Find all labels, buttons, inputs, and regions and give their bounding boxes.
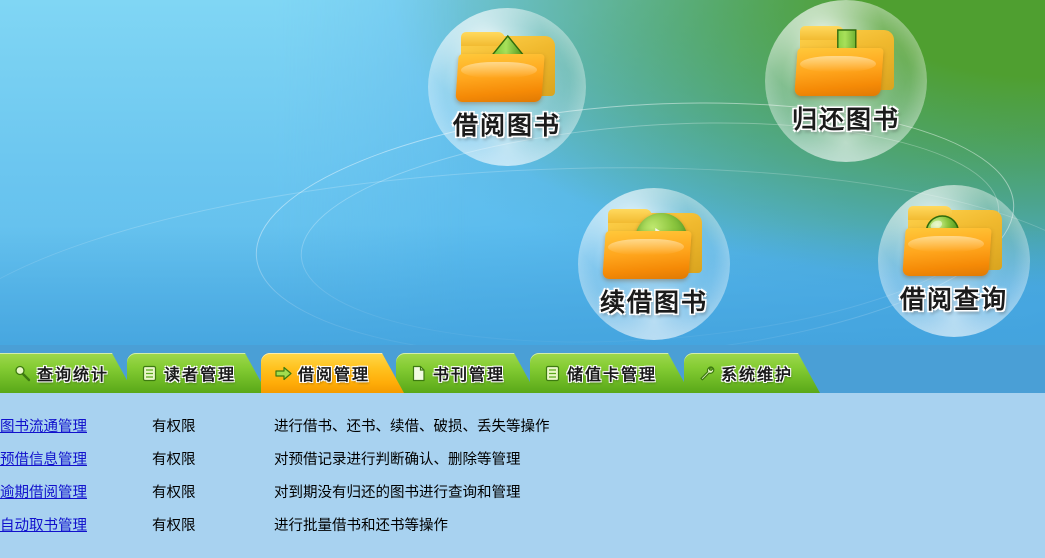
- row-link-cell: 预借信息管理: [0, 442, 152, 475]
- tab-label: 储值卡管理: [567, 361, 657, 385]
- row-description-cell: 进行批量借书和还书等操作: [274, 508, 550, 541]
- tab-system-maintenance[interactable]: 系统维护: [684, 353, 820, 393]
- table-row: 逾期借阅管理 有权限 对到期没有归还的图书进行查询和管理: [0, 475, 550, 508]
- tab-books-management[interactable]: 书刊管理: [396, 353, 536, 393]
- list-icon: [141, 365, 158, 382]
- magnifier-icon: [14, 365, 31, 382]
- bubble-renew-books[interactable]: 续借图书: [578, 188, 730, 340]
- main-navigation-tabbar: 查询统计 读者管理 借阅管理 书刊管理: [0, 345, 1045, 393]
- link-reservation-info-management[interactable]: 预借信息管理: [0, 452, 87, 468]
- tab-reader-management[interactable]: 读者管理: [127, 353, 267, 393]
- tab-label: 借阅管理: [298, 361, 370, 385]
- link-book-circulation-management[interactable]: 图书流通管理: [0, 419, 87, 435]
- bubble-caption: 归还图书: [792, 100, 900, 136]
- document-icon: [410, 365, 427, 382]
- table-row: 预借信息管理 有权限 对预借记录进行判断确认、删除等管理: [0, 442, 550, 475]
- row-link-cell: 逾期借阅管理: [0, 475, 152, 508]
- row-permission-cell: 有权限: [152, 508, 274, 541]
- tab-stored-value-card-management[interactable]: 储值卡管理: [530, 353, 690, 393]
- link-auto-book-pickup-management[interactable]: 自动取书管理: [0, 518, 87, 534]
- row-link-cell: 自动取书管理: [0, 508, 152, 541]
- tab-borrow-management[interactable]: 借阅管理: [261, 353, 404, 393]
- bubble-borrow-query[interactable]: 借阅查询: [878, 185, 1030, 337]
- bubble-borrow-books[interactable]: 借阅图书: [428, 8, 586, 166]
- bubble-caption: 续借图书: [600, 283, 708, 319]
- permissions-panel: 图书流通管理 有权限 进行借书、还书、续借、破损、丢失等操作 预借信息管理 有权…: [0, 393, 1045, 558]
- row-description-cell: 对到期没有归还的图书进行查询和管理: [274, 475, 550, 508]
- list-icon: [544, 365, 561, 382]
- row-permission-cell: 有权限: [152, 409, 274, 442]
- row-permission-cell: 有权限: [152, 475, 274, 508]
- row-link-cell: 图书流通管理: [0, 409, 152, 442]
- permissions-table: 图书流通管理 有权限 进行借书、还书、续借、破损、丢失等操作 预借信息管理 有权…: [0, 409, 550, 541]
- folder-up-arrow-icon: [455, 32, 559, 104]
- tab-label: 书刊管理: [433, 361, 505, 385]
- bubble-return-books[interactable]: 归还图书: [765, 0, 927, 162]
- folder-magnifier-icon: [902, 206, 1006, 278]
- tab-label: 系统维护: [721, 361, 793, 385]
- arrow-right-icon: [275, 365, 292, 382]
- bubble-caption: 借阅图书: [453, 106, 561, 142]
- link-overdue-borrow-management[interactable]: 逾期借阅管理: [0, 485, 87, 501]
- tab-label: 查询统计: [37, 361, 109, 385]
- row-description-cell: 进行借书、还书、续借、破损、丢失等操作: [274, 409, 550, 442]
- folder-play-icon: [602, 209, 706, 281]
- folder-down-arrow-icon: [794, 26, 898, 98]
- tab-query-statistics[interactable]: 查询统计: [0, 353, 134, 393]
- bubble-caption: 借阅查询: [900, 280, 1008, 316]
- tab-label: 读者管理: [164, 361, 236, 385]
- hero-banner: 借阅图书 归还图书: [0, 0, 1045, 345]
- table-row: 图书流通管理 有权限 进行借书、还书、续借、破损、丢失等操作: [0, 409, 550, 442]
- table-row: 自动取书管理 有权限 进行批量借书和还书等操作: [0, 508, 550, 541]
- wrench-icon: [698, 365, 715, 382]
- row-description-cell: 对预借记录进行判断确认、删除等管理: [274, 442, 550, 475]
- row-permission-cell: 有权限: [152, 442, 274, 475]
